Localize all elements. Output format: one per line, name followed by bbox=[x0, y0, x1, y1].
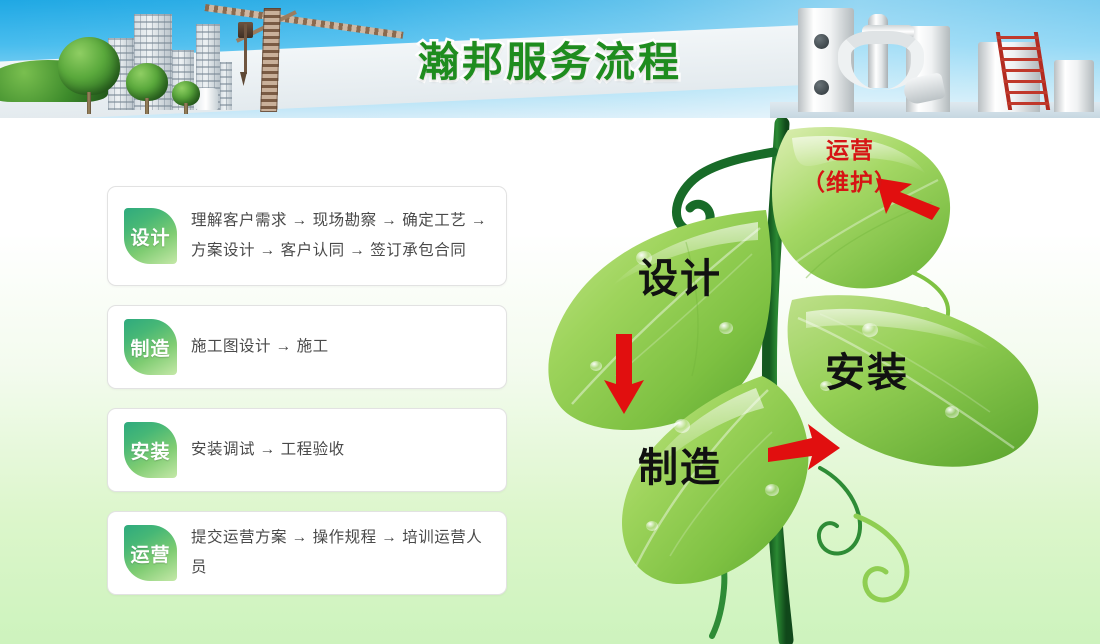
process-card-text: 施工图设计 → 施工 bbox=[191, 332, 329, 362]
process-card-text: 理解客户需求 → 现场勘察 → 确定工艺 → 方案设计 → 客户认同 → 签订承… bbox=[191, 206, 490, 266]
process-card-text: 安装调试 → 工程验收 bbox=[191, 435, 345, 465]
leaf-label-install: 安装 bbox=[825, 340, 909, 398]
leaf-label-operate-line2: （维护） bbox=[802, 166, 898, 198]
leaf-badge-icon: 设计 bbox=[124, 208, 177, 264]
process-card-list: 设计 理解客户需求 → 现场勘察 → 确定工艺 → 方案设计 → 客户认同 → … bbox=[107, 186, 507, 614]
header-banner: 瀚邦服务流程 bbox=[0, 0, 1100, 118]
process-card-design[interactable]: 设计 理解客户需求 → 现场勘察 → 确定工艺 → 方案设计 → 客户认同 → … bbox=[107, 186, 507, 286]
process-card-text: 提交运营方案 → 操作规程 → 培训运营人员 bbox=[191, 523, 490, 583]
leaf-cycle-diagram: 设计 制造 安装 运营 （维护） bbox=[520, 118, 1100, 644]
leaf-badge-icon: 运营 bbox=[124, 525, 177, 581]
process-card-install[interactable]: 安装 安装调试 → 工程验收 bbox=[107, 408, 507, 492]
page-root: 瀚邦服务流程 设计 理解客户需求 → 现场勘察 → 确定工艺 → 方案设计 → … bbox=[0, 0, 1100, 644]
process-card-operate[interactable]: 运营 提交运营方案 → 操作规程 → 培训运营人员 bbox=[107, 511, 507, 595]
leaf-label-design: 设计 bbox=[638, 246, 722, 304]
process-card-manufacture[interactable]: 制造 施工图设计 → 施工 bbox=[107, 305, 507, 389]
page-title: 瀚邦服务流程 bbox=[0, 28, 1100, 88]
leaf-label-operate: 运营 （维护） bbox=[802, 134, 898, 198]
leaf-badge-icon: 制造 bbox=[124, 319, 177, 375]
content-area: 设计 理解客户需求 → 现场勘察 → 确定工艺 → 方案设计 → 客户认同 → … bbox=[0, 118, 1100, 644]
leaf-badge-icon: 安装 bbox=[124, 422, 177, 478]
leaf-label-manufacture: 制造 bbox=[638, 435, 722, 493]
leaf-label-operate-line1: 运营 bbox=[802, 134, 898, 166]
